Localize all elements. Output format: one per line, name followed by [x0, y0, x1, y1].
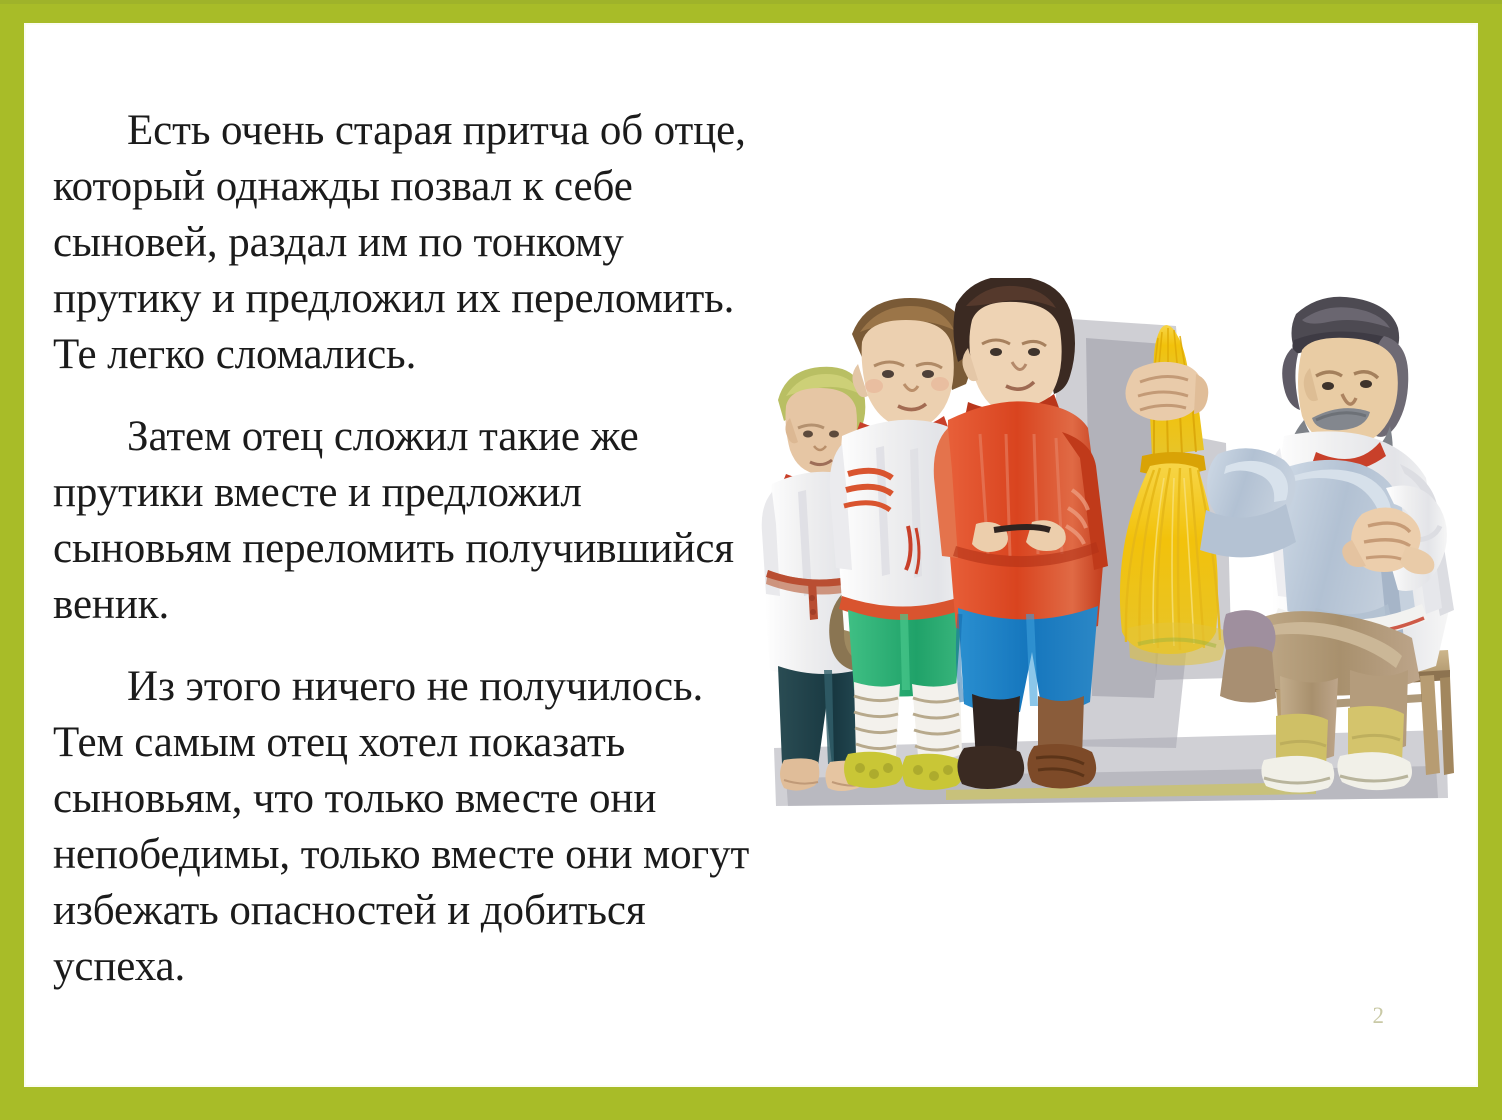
- slide: Есть очень старая притча об отце, которы…: [0, 0, 1502, 1120]
- slide-content-area: Есть очень старая притча об отце, которы…: [26, 25, 1476, 1085]
- body-text-column: Есть очень старая притча об отце, которы…: [53, 103, 753, 1021]
- paragraph-3: Из этого ничего не получилось. Тем самым…: [53, 659, 753, 995]
- slide-border-accent-line: [0, 0, 1502, 4]
- paragraph-1: Есть очень старая притча об отце, которы…: [53, 103, 753, 383]
- paragraph-2: Затем отец сложил такие же прутики вмест…: [53, 409, 753, 633]
- page-number: 2: [1373, 1003, 1385, 1029]
- figure-father: [1200, 297, 1454, 793]
- illustration-father-and-three-sons: [756, 278, 1456, 853]
